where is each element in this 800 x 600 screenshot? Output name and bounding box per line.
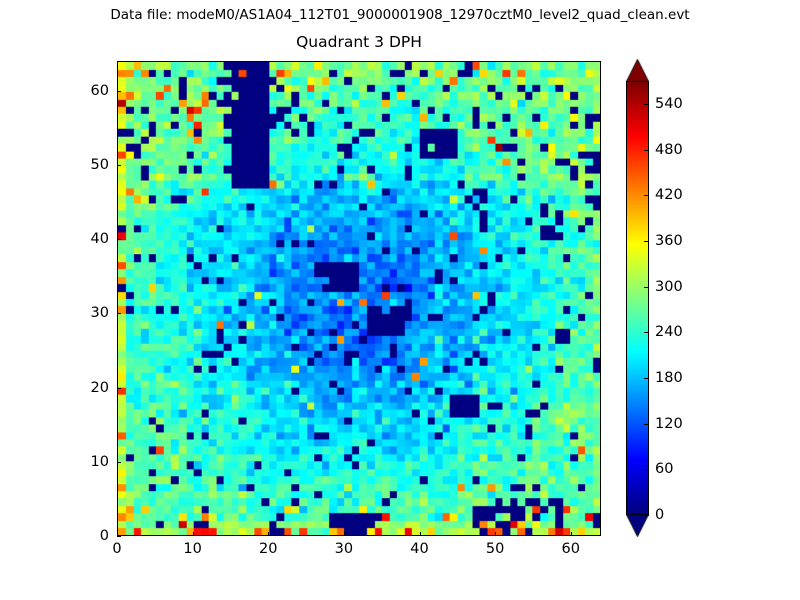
colorbar-tick-label: 540 [655,96,683,112]
colorbar-tick-mark [644,287,649,288]
colorbar-tick-mark [644,195,649,196]
colorbar-tick-label: 300 [655,279,683,295]
colorbar-tick-mark [644,424,649,425]
colorbar-tick-mark [644,104,649,105]
x-tick-label: 60 [562,541,580,557]
y-tick-label: 60 [71,83,109,99]
colorbar-gradient-canvas [627,82,648,514]
x-tick-label: 20 [259,541,277,557]
colorbar-tick-label: 120 [655,416,683,432]
colorbar-tick-mark [644,150,649,151]
colorbar-tick-mark [644,515,649,516]
y-tick-mark [117,536,121,537]
y-tick-mark [117,239,121,240]
colorbar-tick-label: 480 [655,142,683,158]
y-tick-mark [117,313,121,314]
colorbar-extend-max-arrow-icon [626,59,649,82]
x-tick-label: 30 [335,541,353,557]
x-tick-mark [495,532,496,536]
colorbar-tick-label: 0 [655,507,664,523]
x-tick-label: 50 [486,541,504,557]
y-tick-label: 50 [71,157,109,173]
colorbar-tick-label: 360 [655,233,683,249]
axes-title: Quadrant 3 DPH [117,33,601,51]
y-tick-label: 20 [71,380,109,396]
colorbar-tick-label: 180 [655,370,683,386]
x-tick-mark [268,532,269,536]
y-tick-label: 0 [71,528,109,544]
colorbar-extend-min-arrow-icon [626,514,649,537]
colorbar-tick-label: 420 [655,187,683,203]
y-tick-mark [117,165,121,166]
matplotlib-figure: Data file: modeM0/AS1A04_112T01_90000019… [0,0,800,600]
x-tick-label: 40 [410,541,428,557]
colorbar [626,59,649,537]
y-tick-label: 30 [71,305,109,321]
figure-suptitle: Data file: modeM0/AS1A04_112T01_90000019… [0,7,800,23]
colorbar-tick-mark [644,332,649,333]
x-tick-label: 10 [183,541,201,557]
y-tick-label: 10 [71,454,109,470]
colorbar-tick-mark [644,241,649,242]
y-tick-mark [117,388,121,389]
colorbar-tick-mark [644,378,649,379]
heatmap-axes [117,61,601,536]
y-tick-label: 40 [71,231,109,247]
x-tick-label: 0 [112,541,121,557]
y-tick-mark [117,462,121,463]
colorbar-gradient [626,81,649,515]
y-tick-mark [117,91,121,92]
x-tick-mark [571,532,572,536]
colorbar-tick-label: 240 [655,324,683,340]
colorbar-tick-mark [644,469,649,470]
colorbar-tick-label: 60 [655,461,673,477]
heatmap-image [118,62,600,535]
x-tick-mark [344,532,345,536]
x-tick-mark [420,532,421,536]
x-tick-mark [193,532,194,536]
